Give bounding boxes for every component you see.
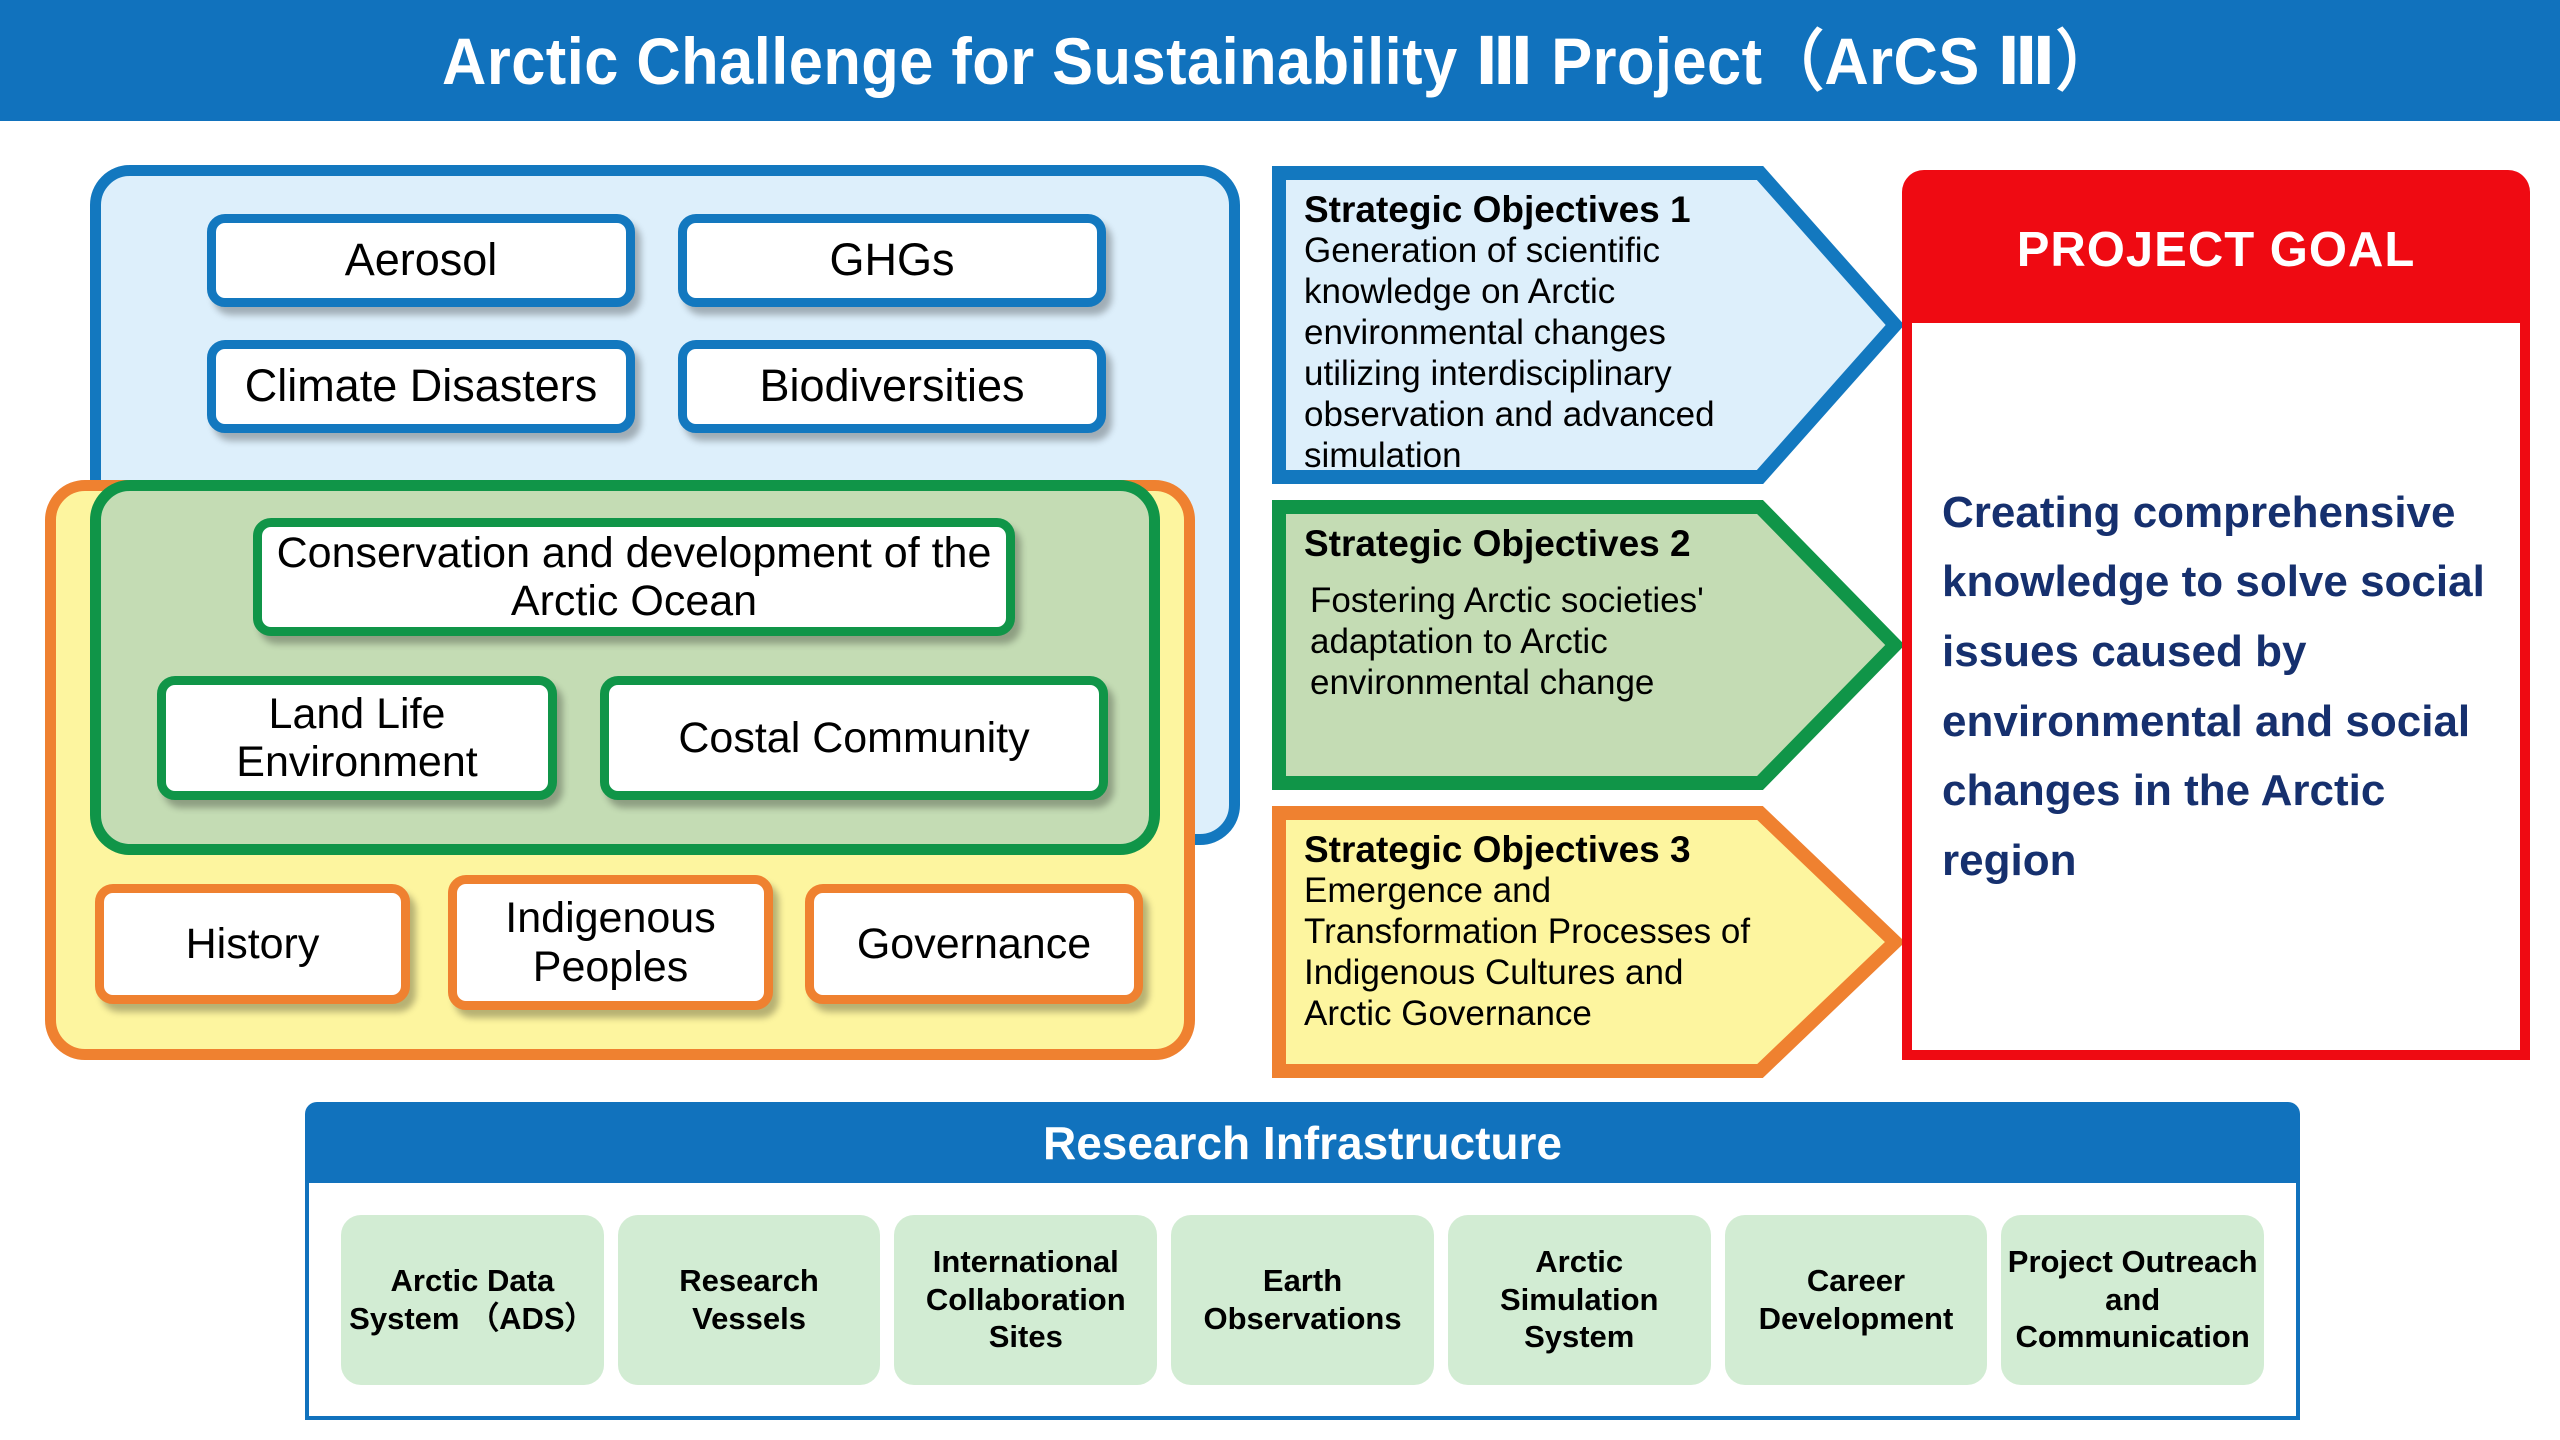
theme-chip-climate-disasters[interactable]: Climate Disasters xyxy=(207,340,635,433)
theme-chip-label: Land Life Environment xyxy=(166,690,548,786)
strategic-objective-3-text: Strategic Objectives 3 Emergence and Tra… xyxy=(1304,828,1752,1035)
project-goal-card: PROJECT GOAL Creating comprehensive know… xyxy=(1902,170,2530,1060)
project-goal-header: PROJECT GOAL xyxy=(1902,170,2530,330)
theme-chip-costal-community[interactable]: Costal Community xyxy=(600,676,1108,800)
infrastructure-card-label: Earth Observations xyxy=(1177,1262,1428,1338)
infrastructure-card-label: Arctic Simulation System xyxy=(1454,1243,1705,1356)
theme-chip-label: Conservation and development of the Arct… xyxy=(262,529,1006,625)
theme-chip-arctic-ocean[interactable]: Conservation and development of the Arct… xyxy=(253,518,1015,636)
infrastructure-card-international-collaboration-sites[interactable]: International Collaboration Sites xyxy=(894,1215,1157,1385)
project-goal-statement: Creating comprehensive knowledge to solv… xyxy=(1912,478,2520,895)
infrastructure-card-arctic-data-system[interactable]: Arctic Data System （ADS） xyxy=(341,1215,604,1385)
strategic-objective-3[interactable]: Strategic Objectives 3 Emergence and Tra… xyxy=(1272,806,1902,1078)
theme-chip-ghgs[interactable]: GHGs xyxy=(678,214,1106,307)
theme-chip-governance[interactable]: Governance xyxy=(805,884,1143,1004)
strategic-objective-1[interactable]: Strategic Objectives 1 Generation of sci… xyxy=(1272,166,1902,484)
strategic-objective-3-body: Emergence and Transformation Processes o… xyxy=(1304,871,1752,1035)
infrastructure-card-label: Project Outreach and Communication xyxy=(2007,1243,2258,1356)
strategic-objective-3-heading: Strategic Objectives 3 xyxy=(1304,828,1752,871)
research-infrastructure-card: Research Infrastructure Arctic Data Syst… xyxy=(305,1102,2300,1420)
theme-chip-biodiversities[interactable]: Biodiversities xyxy=(678,340,1106,433)
strategic-objective-2[interactable]: Strategic Objectives 2 Fostering Arctic … xyxy=(1272,500,1902,790)
project-goal-heading: PROJECT GOAL xyxy=(2017,222,2416,278)
infrastructure-card-label: Career Development xyxy=(1731,1262,1982,1338)
infrastructure-card-label: Arctic Data System （ADS） xyxy=(347,1262,598,1338)
theme-chip-label: Governance xyxy=(857,920,1091,968)
research-infrastructure-list: Arctic Data System （ADS） Research Vessel… xyxy=(305,1183,2300,1420)
infrastructure-card-earth-observations[interactable]: Earth Observations xyxy=(1171,1215,1434,1385)
theme-chip-label: Climate Disasters xyxy=(245,361,598,411)
infrastructure-card-career-development[interactable]: Career Development xyxy=(1725,1215,1988,1385)
strategic-objective-2-heading: Strategic Objectives 2 xyxy=(1304,522,1752,565)
research-infrastructure-heading: Research Infrastructure xyxy=(1043,1116,1562,1170)
theme-chip-label: Aerosol xyxy=(345,235,498,285)
page-title: Arctic Challenge for Sustainability Ⅲ Pr… xyxy=(442,28,2118,94)
strategic-objective-2-text: Strategic Objectives 2 Fostering Arctic … xyxy=(1304,522,1752,704)
theme-chip-indigenous-peoples[interactable]: Indigenous Peoples xyxy=(448,875,773,1010)
slide-canvas: Arctic Challenge for Sustainability Ⅲ Pr… xyxy=(0,0,2560,1440)
theme-chip-label: Biodiversities xyxy=(759,361,1024,411)
strategic-objective-2-body: Fostering Arctic societies' adaptation t… xyxy=(1304,581,1752,704)
infrastructure-card-research-vessels[interactable]: Research Vessels xyxy=(618,1215,881,1385)
theme-chip-history[interactable]: History xyxy=(95,884,410,1004)
project-goal-body: Creating comprehensive knowledge to solv… xyxy=(1902,323,2530,1060)
theme-chip-label: History xyxy=(186,920,320,968)
strategic-objective-1-body: Generation of scientific knowledge on Ar… xyxy=(1304,231,1752,477)
strategic-objective-1-text: Strategic Objectives 1 Generation of sci… xyxy=(1304,188,1752,477)
page-title-bar: Arctic Challenge for Sustainability Ⅲ Pr… xyxy=(0,0,2560,121)
strategic-objective-1-heading: Strategic Objectives 1 xyxy=(1304,188,1752,231)
infrastructure-card-label: Research Vessels xyxy=(624,1262,875,1338)
infrastructure-card-project-outreach-and-communication[interactable]: Project Outreach and Communication xyxy=(2001,1215,2264,1385)
theme-chip-label: Costal Community xyxy=(678,714,1029,762)
theme-chip-aerosol[interactable]: Aerosol xyxy=(207,214,635,307)
theme-chip-label: GHGs xyxy=(829,235,954,285)
infrastructure-card-arctic-simulation-system[interactable]: Arctic Simulation System xyxy=(1448,1215,1711,1385)
research-infrastructure-header: Research Infrastructure xyxy=(305,1102,2300,1183)
infrastructure-card-label: International Collaboration Sites xyxy=(900,1243,1151,1356)
theme-chip-land-life-environment[interactable]: Land Life Environment xyxy=(157,676,557,800)
theme-chip-label: Indigenous Peoples xyxy=(457,894,764,990)
